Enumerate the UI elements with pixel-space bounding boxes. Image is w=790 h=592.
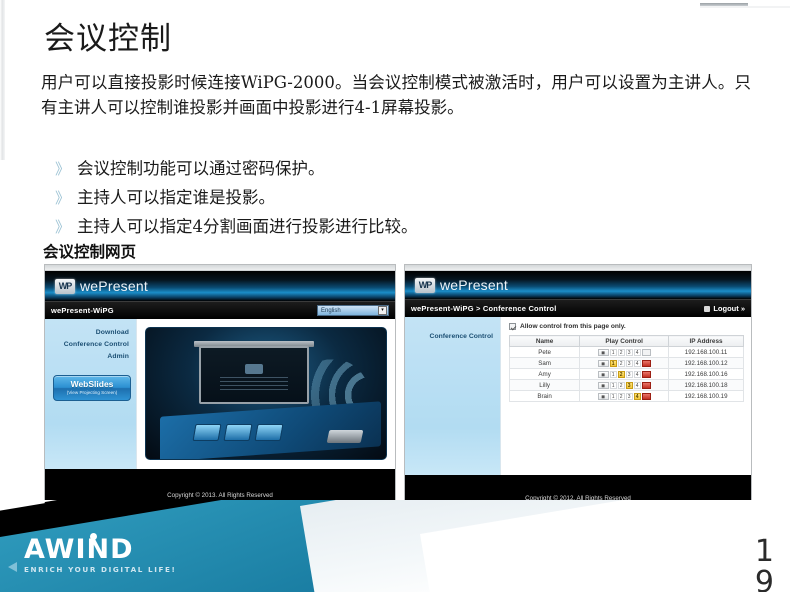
quadrant-button-3[interactable]: 3 [626, 393, 633, 400]
stop-button[interactable]: ◼ [598, 349, 609, 356]
column-header-play-control: Play Control [580, 336, 669, 347]
awind-tagline: ENRICH YOUR DIGITAL LIFE! [24, 565, 176, 574]
body-paragraph: 用户可以直接投影时候连接WiPG-2000。当会议控制模式被激活时，用户可以设置… [41, 70, 751, 120]
table-row: Pete◼1234192.168.100.11 [510, 347, 744, 358]
laptop-icon [193, 424, 222, 441]
sidebar: Conference Control [405, 317, 501, 475]
table-row: Brain◼1234192.168.100.19 [510, 391, 744, 402]
table-row: Sam◼1234192.168.100.12 [510, 358, 744, 369]
inactive-projection-button[interactable] [642, 349, 651, 356]
cell-play-control: ◼1234 [580, 380, 669, 391]
quadrant-button-2[interactable]: 2 [618, 371, 625, 378]
quadrant-button-2[interactable]: 2 [618, 393, 625, 400]
quadrant-button-4[interactable]: 4 [634, 393, 641, 400]
sidebar-item-admin[interactable]: Admin [45, 351, 129, 363]
quadrant-button-4[interactable]: 4 [634, 371, 641, 378]
sidebar-item-conference-control[interactable]: Conference Control [45, 339, 129, 351]
wipg-device-icon [327, 430, 364, 443]
cell-name: Amy [510, 369, 580, 380]
subheading: 会议控制网页 [43, 240, 136, 262]
cell-ip-address: 192.168.100.11 [669, 347, 744, 358]
logout-label: Logout » [713, 304, 745, 313]
bullet-list: 》 会议控制功能可以通过密码保护。 》 主持人可以指定谁是投影。 》 主持人可以… [55, 158, 675, 245]
play-control-group: ◼1234 [581, 382, 667, 389]
quadrant-button-4[interactable]: 4 [634, 349, 641, 356]
brand-header: WP wePresent [405, 271, 751, 299]
cell-play-control: ◼1234 [580, 369, 669, 380]
quadrant-button-3[interactable]: 3 [626, 360, 633, 367]
list-item: 》 主持人可以指定4分割画面进行投影进行比较。 [55, 216, 675, 241]
cell-ip-address: 192.168.100.18 [669, 380, 744, 391]
stop-projection-button[interactable] [642, 371, 651, 378]
sidebar-item-conference-control[interactable]: Conference Control [405, 325, 500, 340]
bullet-marker-icon: 》 [55, 191, 77, 206]
stop-projection-button[interactable] [642, 360, 651, 367]
list-item: 》 主持人可以指定谁是投影。 [55, 187, 675, 212]
conference-control-panel: Allow control from this page only. Name … [501, 317, 751, 475]
quadrant-button-2[interactable]: 2 [618, 360, 625, 367]
chevron-down-icon: ▾ [378, 306, 387, 315]
quadrant-button-2[interactable]: 2 [618, 349, 625, 356]
table-row: Amy◼1234192.168.100.16 [510, 369, 744, 380]
column-header-ip-address: IP Address [669, 336, 744, 347]
hero-illustration [145, 327, 387, 460]
bullet-marker-icon: 》 [55, 162, 77, 177]
stop-button[interactable]: ◼ [598, 393, 609, 400]
brand-header: WP wePresent [45, 271, 395, 301]
language-select[interactable]: English ▾ [317, 305, 389, 316]
play-control-group: ◼1234 [581, 371, 667, 378]
stop-button[interactable]: ◼ [598, 382, 609, 389]
play-control-group: ◼1234 [581, 393, 667, 400]
page-number-digit-2: 9 [755, 567, 774, 592]
list-item-label: 主持人可以指定谁是投影。 [77, 187, 275, 208]
allow-control-checkbox[interactable] [509, 323, 516, 330]
participants-table-body: Pete◼1234192.168.100.11Sam◼1234192.168.1… [510, 347, 744, 402]
column-header-name: Name [510, 336, 580, 347]
sidebar: Download Conference Control Admin WebSli… [45, 319, 137, 469]
sidebar-links: Download Conference Control Admin [45, 327, 136, 363]
brand-name: wePresent [80, 278, 148, 294]
arrow-left-icon [8, 562, 17, 572]
quadrant-button-1[interactable]: 1 [610, 349, 617, 356]
allow-control-row[interactable]: Allow control from this page only. [509, 323, 744, 330]
list-item: 》 会议控制功能可以通过密码保护。 [55, 158, 675, 183]
awind-wordmark: AWIND [24, 536, 176, 563]
cell-play-control: ◼1234 [580, 358, 669, 369]
quadrant-button-1[interactable]: 1 [610, 382, 617, 389]
webslides-button-subtitle: (View Projecting Screen) [67, 389, 117, 396]
quadrant-button-4[interactable]: 4 [634, 360, 641, 367]
breadcrumb: wePresent-WiPG [51, 306, 114, 315]
allow-control-label: Allow control from this page only. [520, 323, 626, 330]
stop-button[interactable]: ◼ [598, 371, 609, 378]
stop-projection-button[interactable] [642, 393, 651, 400]
play-control-group: ◼1234 [581, 349, 667, 356]
sidebar-item-download[interactable]: Download [45, 327, 129, 339]
slide-canvas: 会议控制 用户可以直接投影时候连接WiPG-2000。当会议控制模式被激活时，用… [0, 0, 790, 592]
navigation-bar: wePresent-WiPG > Conference Control Logo… [405, 299, 751, 317]
play-control-group: ◼1234 [581, 360, 667, 367]
participants-table: Name Play Control IP Address Pete◼123419… [509, 335, 744, 402]
list-item-label: 主持人可以指定4分割画面进行投影进行比较。 [77, 216, 418, 237]
laptop-icon [224, 424, 253, 441]
page-number: 1 9 [755, 536, 774, 592]
quadrant-button-4[interactable]: 4 [634, 382, 641, 389]
page-number-digit-1: 1 [755, 536, 774, 567]
cell-ip-address: 192.168.100.16 [669, 369, 744, 380]
logout-icon [704, 306, 710, 312]
cell-play-control: ◼1234 [580, 391, 669, 402]
language-select-value: English [319, 308, 341, 314]
quadrant-button-3[interactable]: 3 [626, 349, 633, 356]
cell-name: Brain [510, 391, 580, 402]
webslides-button-title: WebSlides [71, 380, 114, 389]
breadcrumb: wePresent-WiPG > Conference Control [411, 304, 557, 313]
webslides-button[interactable]: WebSlides (View Projecting Screen) [53, 375, 131, 401]
quadrant-button-3[interactable]: 3 [626, 382, 633, 389]
bullet-marker-icon: 》 [55, 220, 77, 235]
hero-area [137, 319, 395, 469]
left-edge-decoration [0, 0, 5, 160]
page-body: Download Conference Control Admin WebSli… [45, 319, 395, 469]
page-title: 会议控制 [44, 22, 172, 57]
quadrant-button-1[interactable]: 1 [610, 371, 617, 378]
laptop-icon [255, 424, 284, 441]
awind-logo: AWIND ENRICH YOUR DIGITAL LIFE! [24, 536, 176, 574]
projector-screen [199, 346, 309, 404]
top-right-rule-secondary [700, 6, 790, 8]
footer-copyright: Copyright © 2013. All Rights Reserved [45, 469, 395, 504]
table-header-row: Name Play Control IP Address [510, 336, 744, 347]
cell-play-control: ◼1234 [580, 347, 669, 358]
stop-button[interactable]: ◼ [598, 360, 609, 367]
cell-name: Sam [510, 358, 580, 369]
awind-dot-icon [90, 533, 97, 540]
quadrant-button-2[interactable]: 2 [618, 382, 625, 389]
cell-name: Pete [510, 347, 580, 358]
wepresent-home-screenshot: WP wePresent wePresent-WiPG English ▾ Do… [44, 264, 396, 504]
quadrant-button-3[interactable]: 3 [626, 371, 633, 378]
cell-ip-address: 192.168.100.19 [669, 391, 744, 402]
logout-button[interactable]: Logout » [704, 304, 745, 313]
wepresent-logo-icon: WP [55, 279, 75, 294]
projected-logo-icon [245, 364, 263, 374]
page-body: Conference Control Allow control from th… [405, 317, 751, 475]
projected-content-lines [220, 377, 288, 390]
conference-control-screenshot: WP wePresent wePresent-WiPG > Conference… [404, 264, 752, 504]
brand-name: wePresent [440, 277, 508, 293]
bottom-banner: AWIND ENRICH YOUR DIGITAL LIFE! [0, 500, 790, 592]
stop-projection-button[interactable] [642, 382, 651, 389]
navigation-bar: wePresent-WiPG English ▾ [45, 301, 395, 319]
table-row: Lilly◼1234192.168.100.18 [510, 380, 744, 391]
cell-name: Lilly [510, 380, 580, 391]
list-item-label: 会议控制功能可以通过密码保护。 [77, 158, 325, 179]
quadrant-button-1[interactable]: 1 [610, 393, 617, 400]
wepresent-logo-icon: WP [415, 278, 435, 293]
quadrant-button-1[interactable]: 1 [610, 360, 617, 367]
cell-ip-address: 192.168.100.12 [669, 358, 744, 369]
